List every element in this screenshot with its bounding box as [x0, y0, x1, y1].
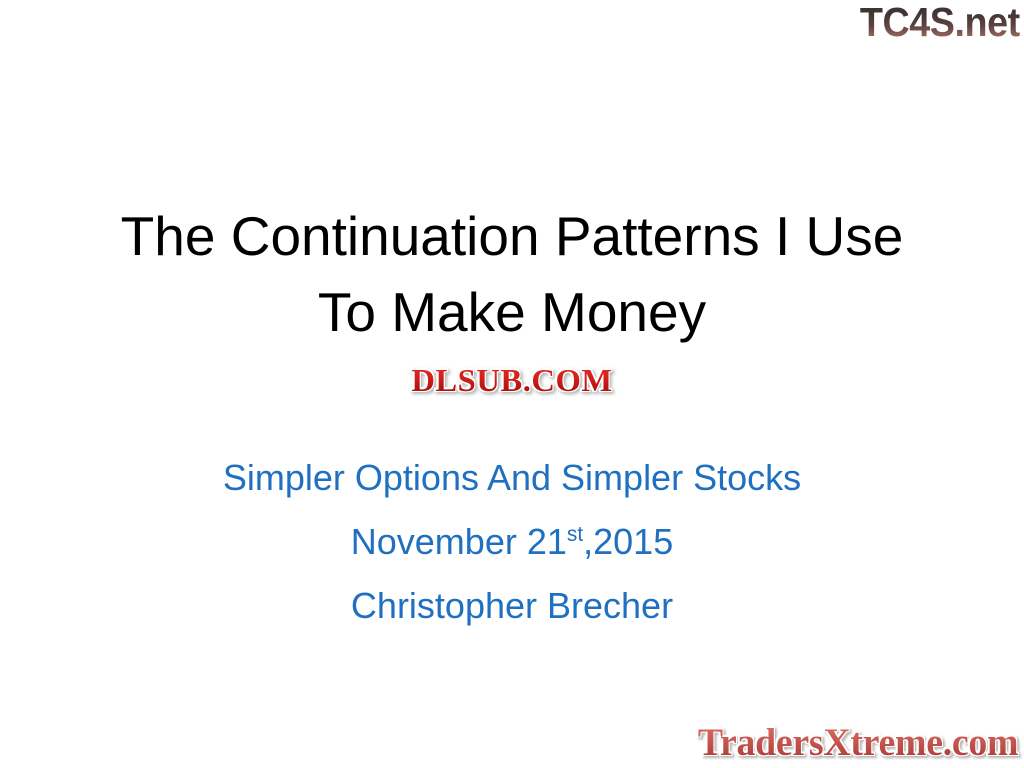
tc4s-watermark: TC4S.net [860, 2, 1020, 43]
dlsub-watermark-text: DLSUB.COM [411, 364, 612, 396]
subtitle-presenter: Christopher Brecher [0, 574, 1024, 638]
title-slide: TC4S.net The Continuation Patterns I Use… [0, 0, 1024, 768]
slide-subtitle: Simpler Options And Simpler Stocks Novem… [0, 446, 1024, 638]
slide-title: The Continuation Patterns I Use To Make … [0, 198, 1024, 350]
title-line-1: The Continuation Patterns I Use [0, 198, 1024, 274]
title-line-2: To Make Money [0, 274, 1024, 350]
date-prefix: November 21 [351, 521, 567, 562]
tradersxtreme-watermark: TradersXtreme.com [698, 723, 1018, 762]
dlsub-watermark: DLSUB.COM [405, 361, 618, 400]
subtitle-date: November 21st,2015 [0, 510, 1024, 574]
date-year: ,2015 [583, 521, 673, 562]
subtitle-organization: Simpler Options And Simpler Stocks [0, 446, 1024, 510]
date-ordinal-suffix: st [567, 523, 583, 546]
